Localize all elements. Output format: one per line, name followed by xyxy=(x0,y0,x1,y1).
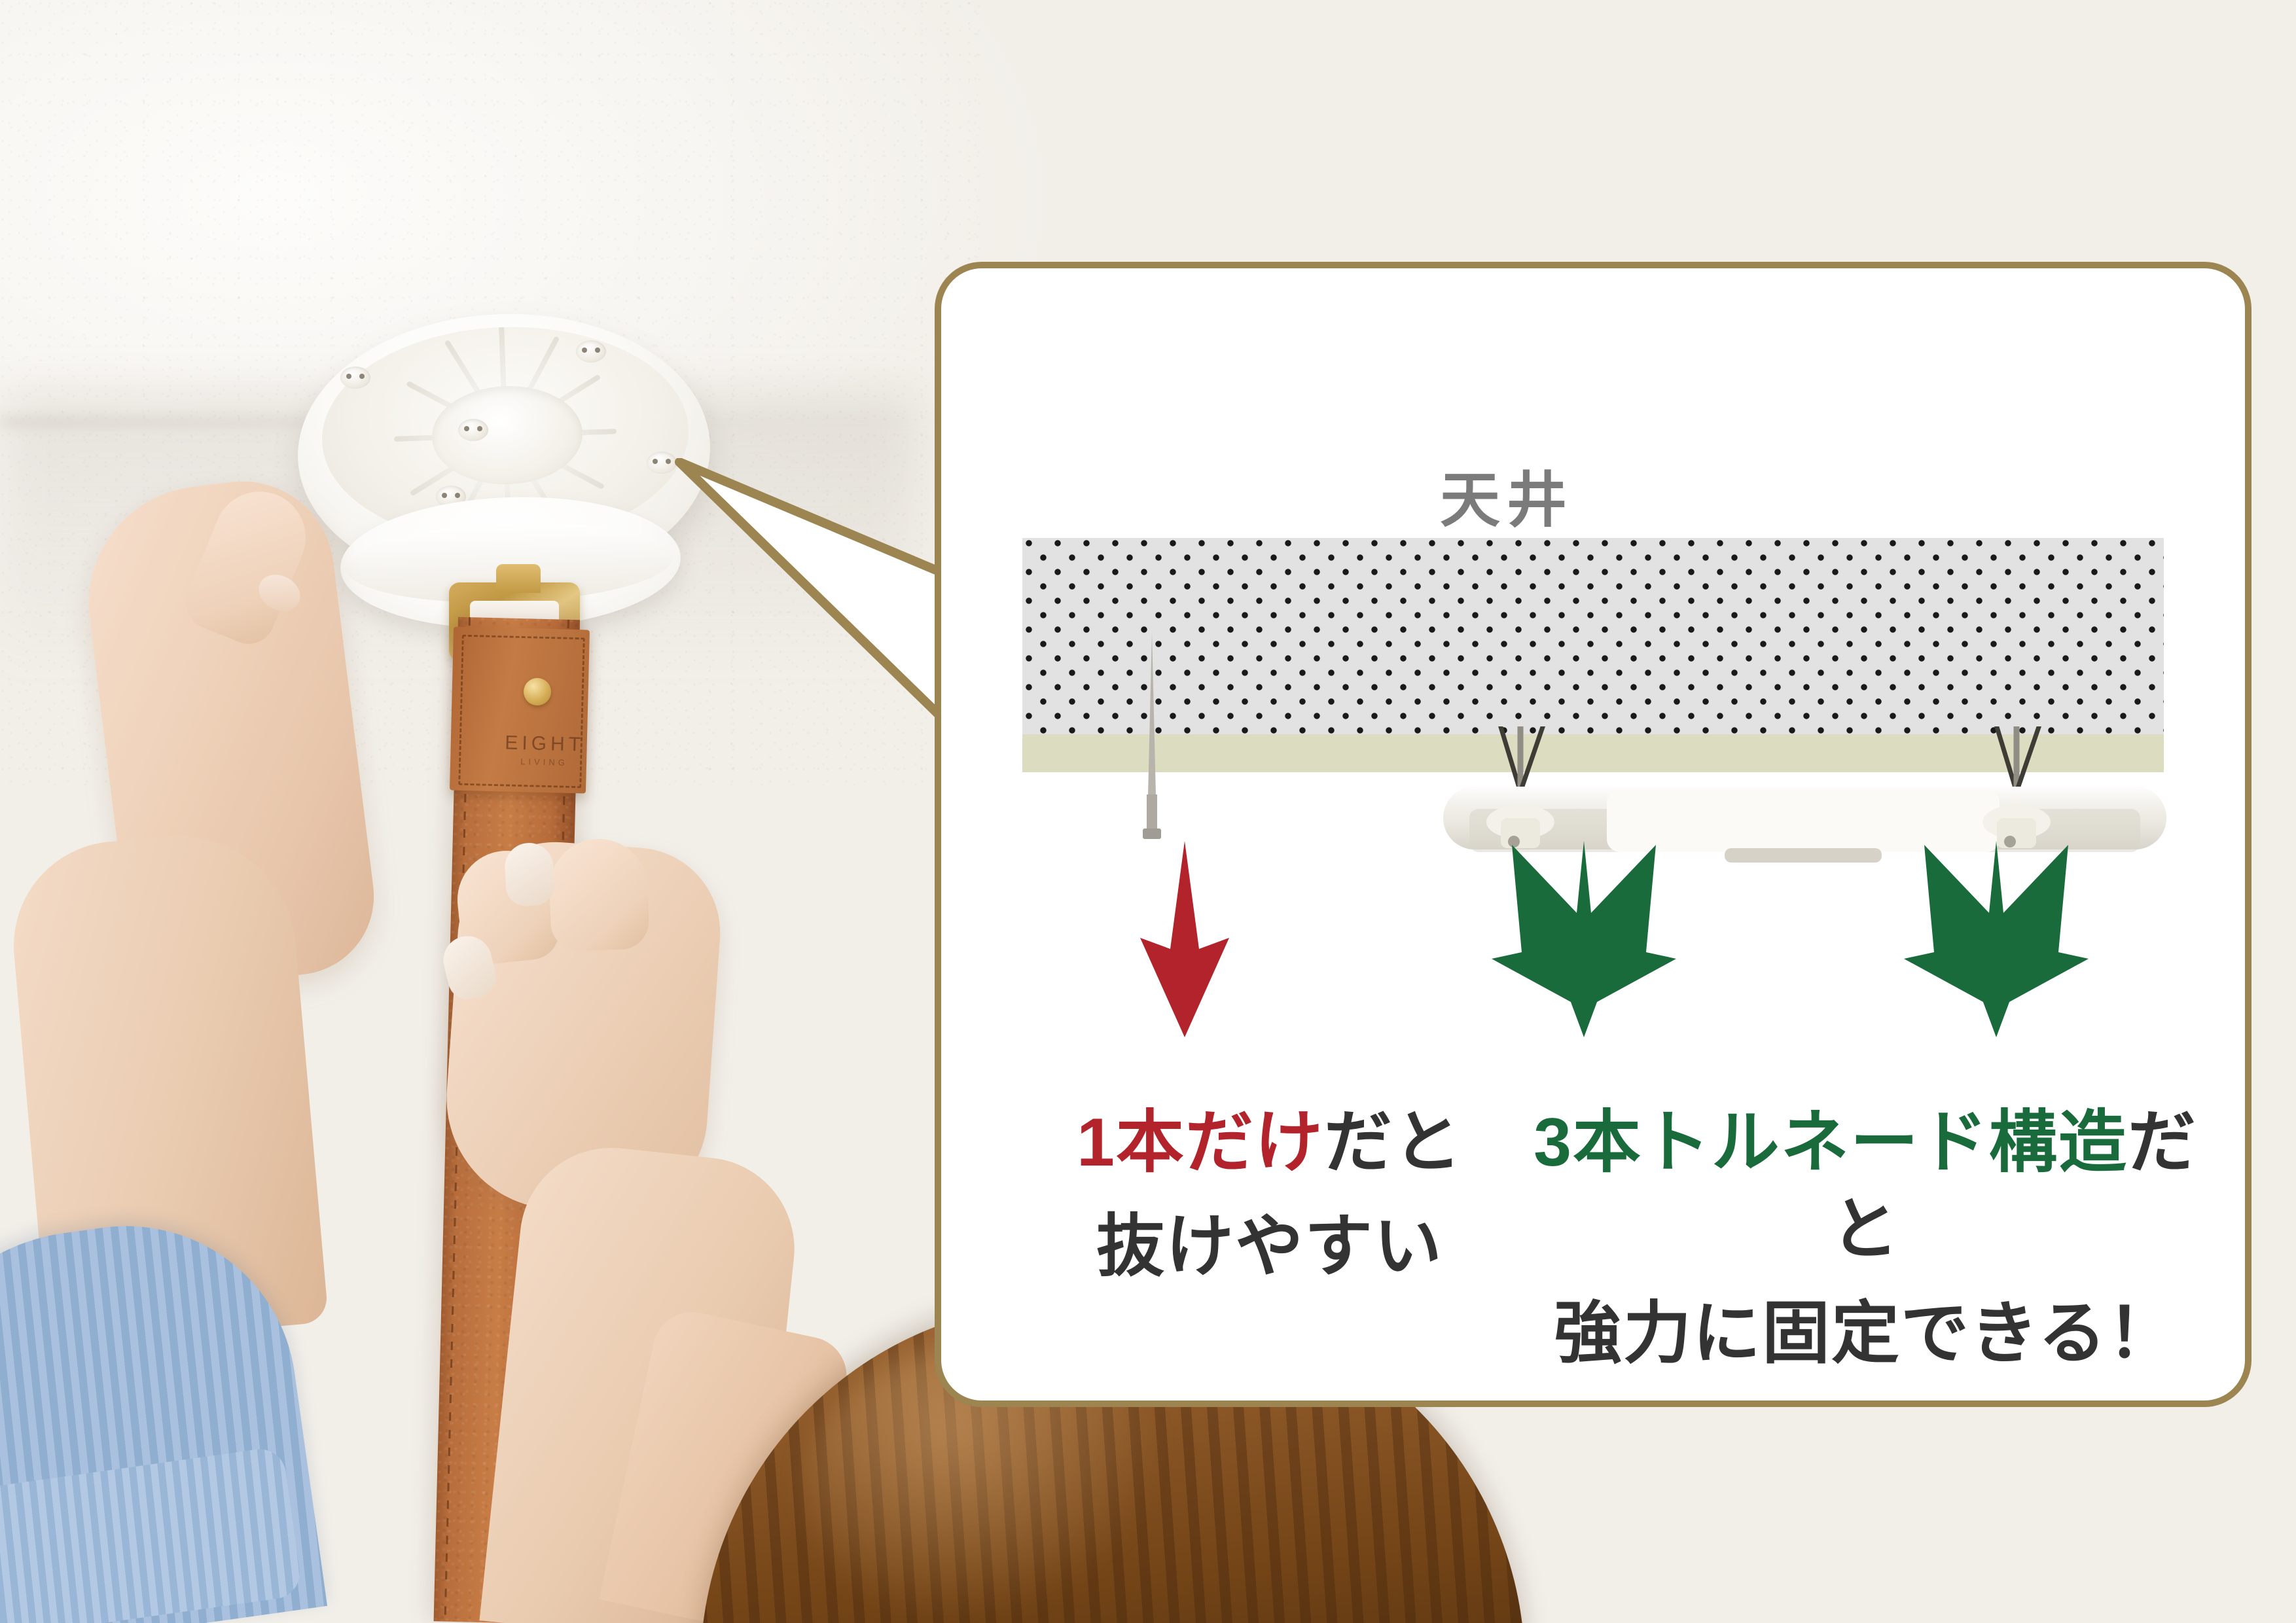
downward-force-arrow-icon xyxy=(1086,841,1283,1037)
brass-buckle-tab xyxy=(496,564,541,593)
single-pin-icon xyxy=(1139,632,1165,848)
bracket-screw-3 xyxy=(647,452,677,474)
brass-rivet xyxy=(524,678,551,705)
bracket-screw-1 xyxy=(340,366,370,389)
caption-tornado-highlight: 3本トルネード構造 xyxy=(1534,1105,2128,1181)
three-way-force-arrows-icon-left xyxy=(1450,841,1718,1037)
bracket-screw-4 xyxy=(458,419,488,441)
caption-single-pin-highlight: 1本だけ xyxy=(1077,1105,1324,1181)
ceiling-cross-section xyxy=(1022,538,2164,734)
screenshot-root: EIGHT LIVING 天井 xyxy=(0,0,2296,1623)
caption-single-pin: 1本だけだと 抜けやすい xyxy=(1001,1099,1538,1291)
caption-single-pin-subline: 抜けやすい xyxy=(1001,1204,1538,1291)
right-finger-2 xyxy=(548,837,650,952)
ceiling-label: 天井 xyxy=(1440,452,1780,539)
brand-logo-primary: EIGHT xyxy=(499,733,591,755)
caption-single-pin-rest: だと xyxy=(1324,1105,1463,1181)
three-way-force-arrows-icon-right xyxy=(1862,841,2130,1037)
caption-tornado-subline: 強力に固定できる！ xyxy=(1518,1291,2212,1378)
caption-tornado: 3本トルネード構造だと 強力に固定できる！ xyxy=(1518,1099,2212,1378)
right-fingernail-1 xyxy=(504,842,556,907)
brand-logo: EIGHT LIVING xyxy=(498,733,590,767)
bracket-screw-2 xyxy=(576,340,606,363)
